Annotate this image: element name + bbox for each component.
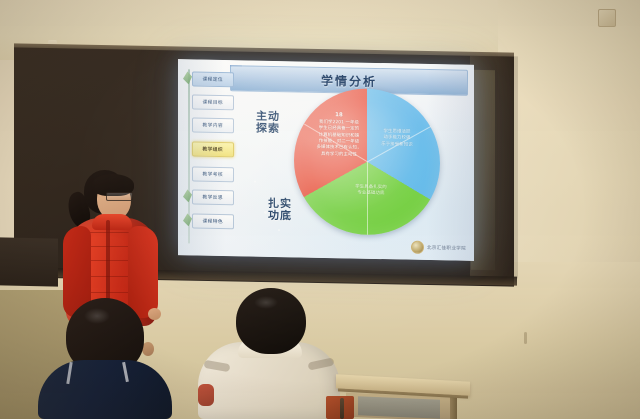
blackboard-side-panel [471, 70, 495, 270]
slide-decor-dot-2 [254, 181, 256, 183]
powerpoint-slide[interactable]: 学情分析 课程定位 课程目标 教学内容 教学组织 教学考核 [178, 59, 474, 261]
sidebar-item-5-label: 教学反思 [203, 194, 224, 201]
pie-separator-1 [367, 162, 368, 235]
pie-segment-red-text: 18我们学2201 一年级学生已经具备一定的计算机基础知识和操作技能，对二一年级… [310, 112, 368, 159]
leaf-icon-3 [183, 213, 192, 226]
sidebar-item-3-label: 教学组织 [203, 146, 224, 153]
sidebar-item-4[interactable]: 教学考核 [192, 166, 234, 182]
pie-side-label-top: 主动探索 [256, 111, 280, 136]
attendee-right [198, 288, 338, 419]
desk-rod [340, 398, 344, 419]
sidebar-item-2-label: 教学内容 [203, 122, 224, 129]
pie-segment-green-text: 学生具备扎实的专业基础功底 [342, 184, 400, 198]
sidebar-item-0[interactable]: 课程定位 [192, 71, 234, 87]
desk [336, 378, 470, 419]
sidebar-item-2[interactable]: 教学内容 [192, 117, 234, 133]
glasses-icon [106, 192, 133, 201]
sidebar-item-6-label: 课程特色 [203, 218, 224, 225]
pie-segment-blue-text: 学生思维活跃动手能力较强乐于接受新知识 [368, 129, 426, 149]
leaf-icon [183, 71, 192, 84]
slide-title: 学情分析 [321, 71, 377, 89]
sidebar-item-4-label: 教学考核 [203, 171, 224, 178]
sidebar-item-6[interactable]: 课程特色 [192, 213, 234, 229]
wall-mark [524, 332, 527, 344]
desk-inner-panel [358, 396, 440, 418]
desk-leg [450, 396, 457, 419]
sidebar-item-1-label: 课程目标 [203, 99, 224, 106]
presenter-collar [92, 214, 132, 230]
blackboard-left-panel [0, 237, 58, 286]
sidebar-item-0-label: 课程定位 [203, 76, 224, 83]
slide-sidebar-nav[interactable]: 课程定位 课程目标 教学内容 教学组织 教学考核 教学反思 [184, 65, 232, 250]
projection-screen[interactable]: 学情分析 课程定位 课程目标 教学内容 教学组织 教学考核 [178, 59, 474, 261]
attendee-left [38, 298, 170, 419]
pie-chart: 18我们学2201 一年级学生已经具备一定的计算机基础知识和操作技能，对二一年级… [294, 87, 440, 236]
wall-mounted-box [598, 9, 616, 27]
slide-logo-text: 北京汇佳职业学院 [427, 244, 466, 251]
attendee-left-body [38, 360, 172, 419]
slide-logo: 北京汇佳职业学院 [411, 241, 466, 255]
attendee-right-hair-highlight [254, 296, 278, 309]
attendee-left-hair-highlight [84, 308, 110, 324]
sidebar-item-5[interactable]: 教学反思 [192, 189, 234, 205]
sidebar-item-1[interactable]: 课程目标 [192, 94, 234, 110]
pie-side-label-bottom: 扎实功底 [268, 198, 292, 223]
leaf-icon-2 [183, 189, 192, 202]
sidebar-item-3-active[interactable]: 教学组织 [192, 141, 234, 157]
slide-decor-dot-3 [278, 229, 280, 231]
school-emblem-icon [411, 241, 424, 254]
attendee-right-side-object [198, 384, 214, 406]
classroom-photo: 学情分析 课程定位 课程目标 教学内容 教学组织 教学考核 [0, 0, 640, 419]
slide-decor-dot-1 [264, 211, 267, 214]
